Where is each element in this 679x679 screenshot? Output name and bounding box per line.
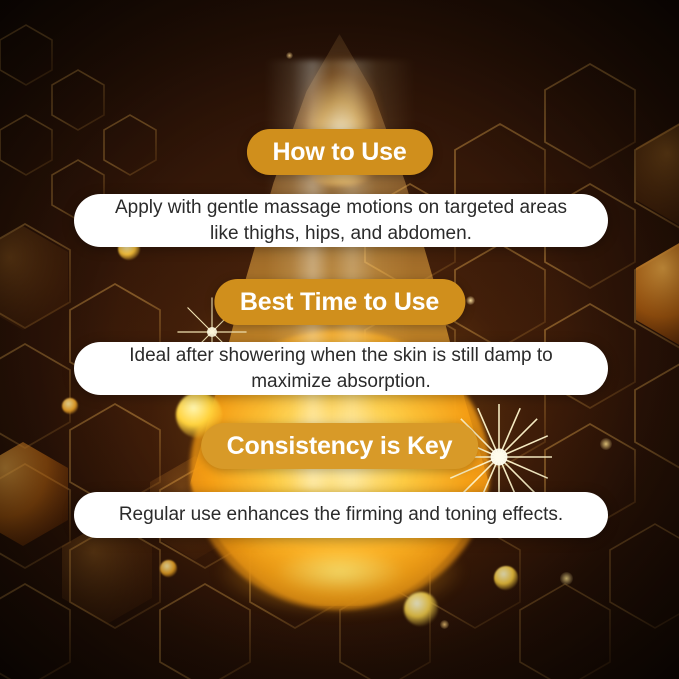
section-heading-pill-1: How to Use: [246, 129, 432, 175]
section-body-text: Apply with gentle massage motions on tar…: [100, 195, 582, 245]
section-heading-label: How to Use: [272, 138, 406, 167]
section-heading-label: Consistency is Key: [227, 432, 453, 461]
section-body-text: Regular use enhances the firming and ton…: [119, 502, 563, 527]
section-body-text: Ideal after showering when the skin is s…: [100, 343, 582, 393]
section-body-card-2: Ideal after showering when the skin is s…: [74, 342, 608, 395]
section-body-card-1: Apply with gentle massage motions on tar…: [74, 194, 608, 247]
section-body-card-3: Regular use enhances the firming and ton…: [74, 492, 608, 538]
infographic-canvas: How to Use Apply with gentle massage mot…: [0, 0, 679, 679]
content-stack: How to Use Apply with gentle massage mot…: [0, 0, 679, 679]
section-heading-label: Best Time to Use: [240, 288, 439, 317]
section-heading-pill-3: Consistency is Key: [201, 423, 479, 469]
section-heading-pill-2: Best Time to Use: [214, 279, 465, 325]
